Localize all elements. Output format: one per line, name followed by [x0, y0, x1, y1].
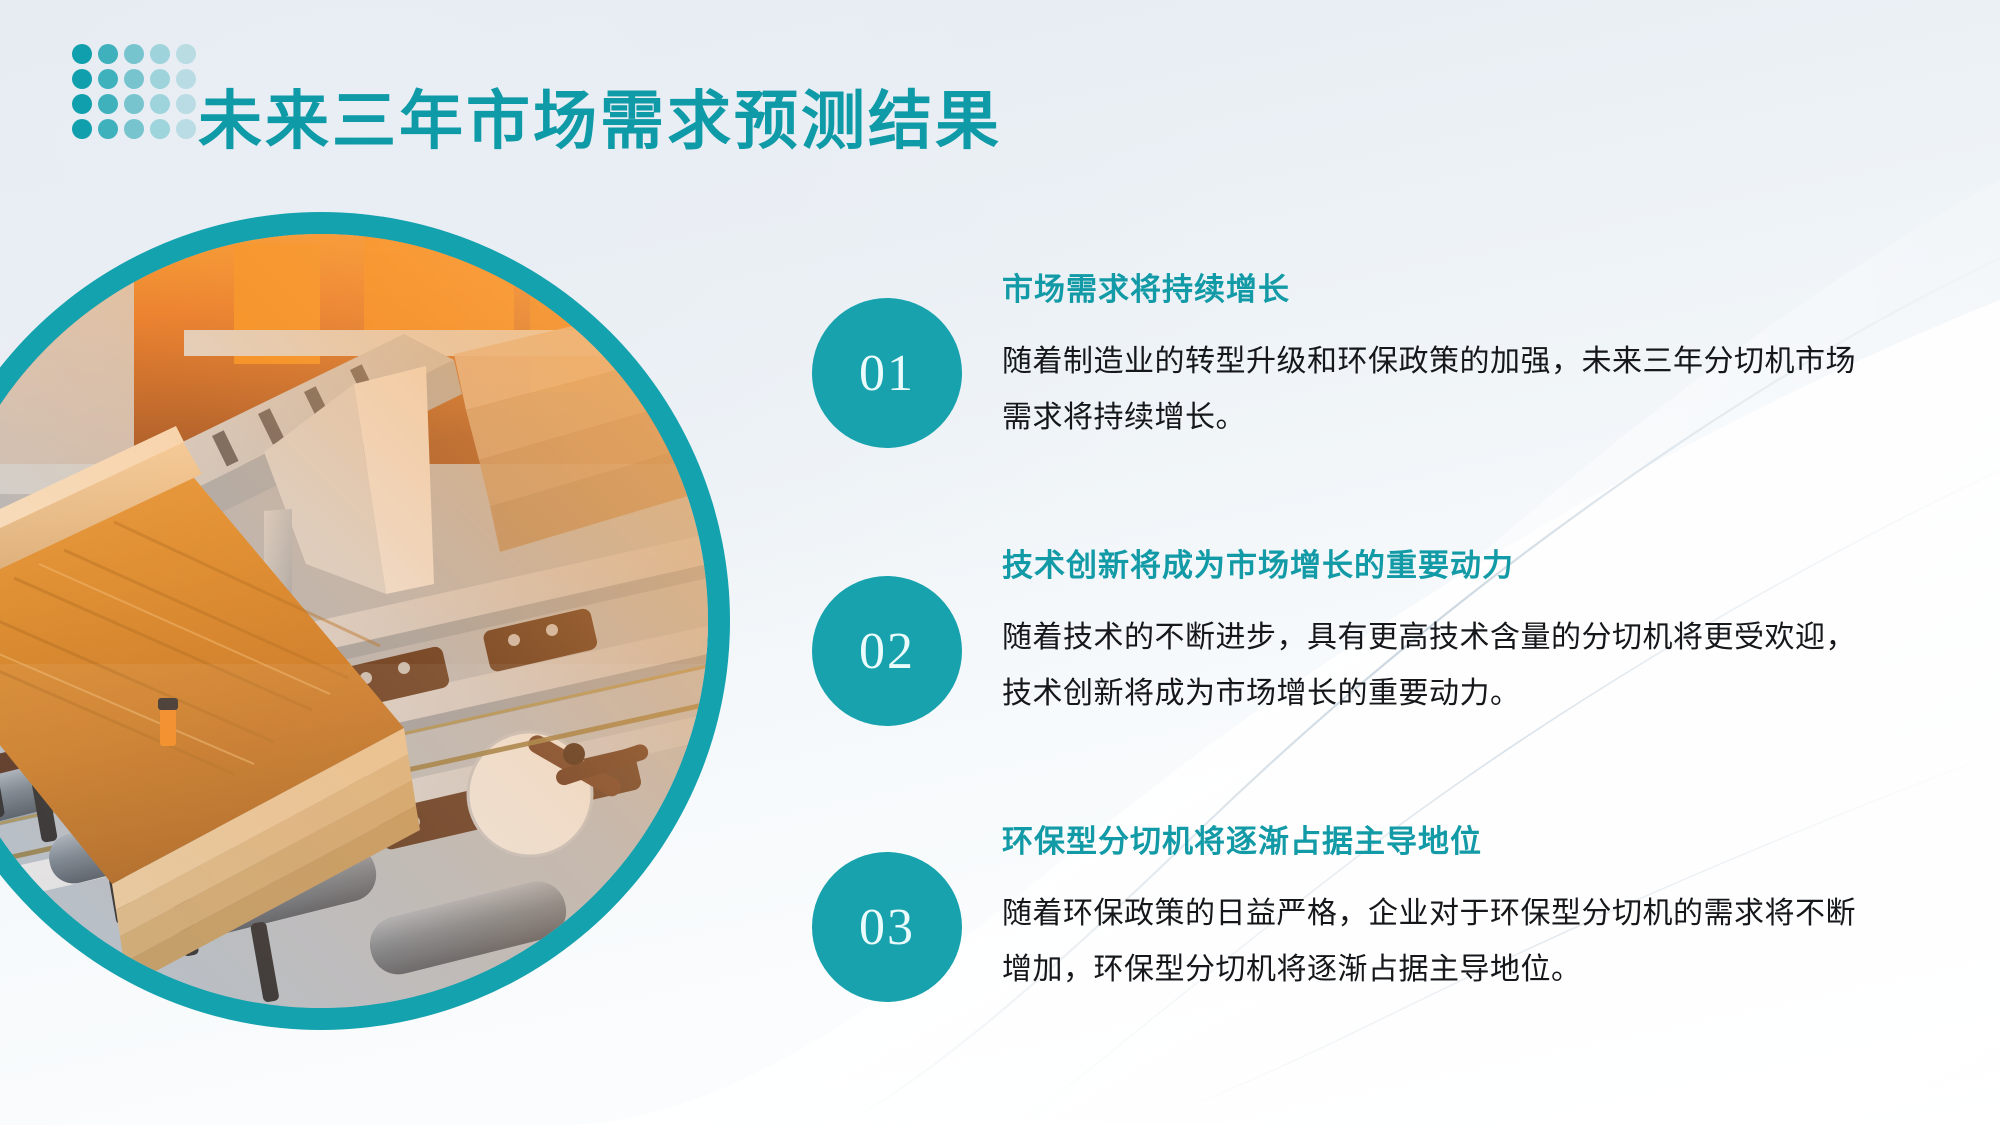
- grid-dot: [176, 94, 196, 114]
- grid-dot: [98, 69, 118, 89]
- list-item: 01 市场需求将持续增长 随着制造业的转型升级和环保政策的加强，未来三年分切机市…: [812, 270, 1942, 480]
- list-item: 03 环保型分切机将逐渐占据主导地位 随着环保政策的日益严格，企业对于环保型分切…: [812, 822, 1942, 1032]
- slide-header: 未来三年市场需求预测结果: [0, 0, 2000, 160]
- grid-dot: [124, 119, 144, 139]
- grid-dot: [124, 94, 144, 114]
- item-text-block: 市场需求将持续增长 随着制造业的转型升级和环保政策的加强，未来三年分切机市场需求…: [1002, 270, 1942, 445]
- grid-dot: [176, 69, 196, 89]
- grid-dot: [98, 119, 118, 139]
- photo-ring-frame: [0, 212, 730, 1030]
- item-text-block: 环保型分切机将逐渐占据主导地位 随着环保政策的日益严格，企业对于环保型分切机的需…: [1002, 822, 1942, 997]
- grid-dot: [124, 69, 144, 89]
- item-number-badge: 02: [812, 576, 962, 726]
- grid-dot: [72, 94, 92, 114]
- grid-dot: [98, 44, 118, 64]
- grid-dot: [150, 119, 170, 139]
- grid-dot: [72, 119, 92, 139]
- item-number-badge: 01: [812, 298, 962, 448]
- item-body: 随着制造业的转型升级和环保政策的加强，未来三年分切机市场需求将持续增长。: [1002, 334, 1882, 445]
- circular-photo: [0, 234, 708, 1008]
- grid-dot: [176, 119, 196, 139]
- grid-dot: [150, 69, 170, 89]
- grid-dot: [72, 44, 92, 64]
- item-text-block: 技术创新将成为市场增长的重要动力 随着技术的不断进步，具有更高技术含量的分切机将…: [1002, 546, 1942, 721]
- grid-dot: [176, 44, 196, 64]
- item-heading: 市场需求将持续增长: [1002, 270, 1942, 310]
- grid-dot: [124, 44, 144, 64]
- slide-canvas: 未来三年市场需求预测结果: [0, 0, 2000, 1125]
- item-body: 随着环保政策的日益严格，企业对于环保型分切机的需求将不断增加，环保型分切机将逐渐…: [1002, 886, 1882, 997]
- item-heading: 环保型分切机将逐渐占据主导地位: [1002, 822, 1942, 862]
- grid-dot: [98, 94, 118, 114]
- feature-list: 01 市场需求将持续增长 随着制造业的转型升级和环保政策的加强，未来三年分切机市…: [812, 270, 1942, 1032]
- grid-dot: [72, 69, 92, 89]
- grid-dot: [150, 44, 170, 64]
- item-heading: 技术创新将成为市场增长的重要动力: [1002, 546, 1942, 586]
- list-item: 02 技术创新将成为市场增长的重要动力 随着技术的不断进步，具有更高技术含量的分…: [812, 546, 1942, 756]
- dot-grid-decoration: [72, 44, 202, 144]
- grid-dot: [150, 94, 170, 114]
- page-title: 未来三年市场需求预测结果: [198, 85, 1002, 159]
- item-number-badge: 03: [812, 852, 962, 1002]
- factory-conveyor-illustration: [0, 234, 708, 1008]
- item-body: 随着技术的不断进步，具有更高技术含量的分切机将更受欢迎，技术创新将成为市场增长的…: [1002, 610, 1882, 721]
